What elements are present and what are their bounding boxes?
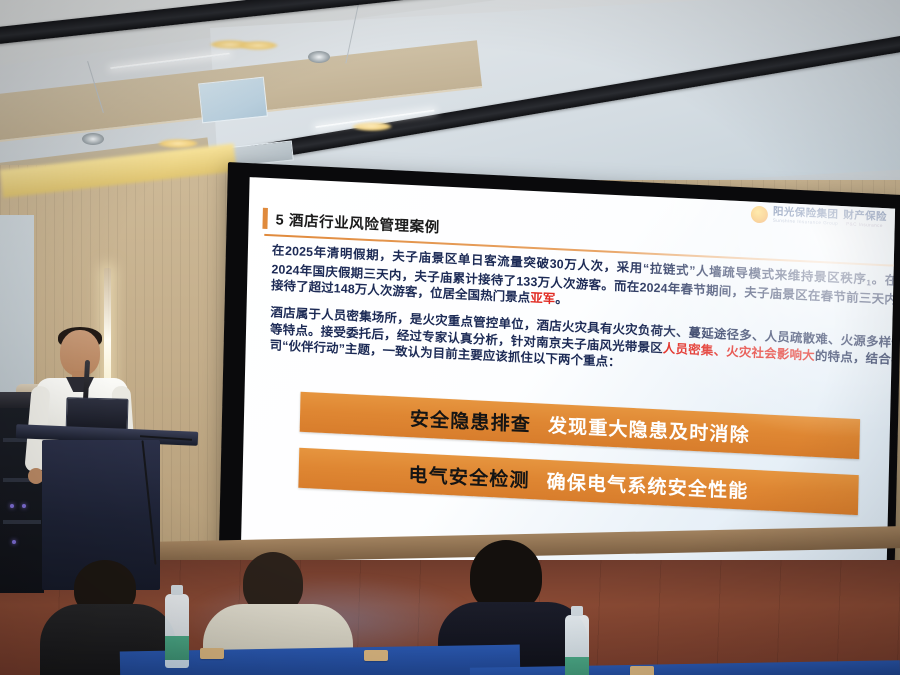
slide-title: 5 酒店行业风险管理案例 (275, 208, 440, 237)
conference-room-photo: 阳光保险集团财产保险 Sunshine Insurance GroupP&C I… (0, 0, 900, 675)
logo-text-block: 阳光保险集团财产保险 Sunshine Insurance GroupP&C I… (773, 207, 887, 229)
bottle-label (565, 657, 589, 675)
key-point-box-2: 电气安全检测 确保电气系统安全性能 (298, 448, 858, 515)
snack-item (630, 666, 654, 675)
key-point-2-light-label: 确保电气系统安全性能 (546, 466, 748, 503)
key-point-box-1: 安全隐患排查 发现重大隐患及时消除 (300, 392, 860, 459)
downlight-icon (82, 133, 104, 145)
bottle-label (165, 636, 189, 660)
company-logo: 阳光保险集团财产保险 Sunshine Insurance GroupP&C I… (751, 206, 887, 230)
highlighted-text: 亚军 (530, 291, 555, 306)
bottle-cap (171, 585, 183, 595)
water-bottle (565, 615, 589, 675)
key-point-1-light-label: 发现重大隐患及时消除 (548, 410, 750, 447)
downlight-icon (308, 51, 330, 63)
key-point-2-dark-label: 电气安全检测 (408, 460, 530, 493)
water-bottle (165, 594, 189, 668)
beam-light (352, 122, 392, 131)
sun-icon (751, 206, 768, 224)
snack-item (200, 648, 224, 659)
key-point-1-dark-label: 安全隐患排查 (410, 404, 532, 437)
beam-light (158, 139, 198, 148)
bottle-cap (571, 606, 583, 616)
slide-title-row: 5 酒店行业风险管理案例 (262, 208, 440, 238)
body-text: 。 (555, 292, 568, 307)
footnote-marker: 1 (866, 278, 871, 287)
ceiling-recess (198, 77, 268, 124)
logo-company-en-sub: P&C Insurance (846, 221, 883, 228)
presenter-head (60, 330, 100, 376)
snack-item (364, 650, 388, 661)
beam-light (238, 41, 278, 50)
title-accent-bar (262, 208, 267, 229)
